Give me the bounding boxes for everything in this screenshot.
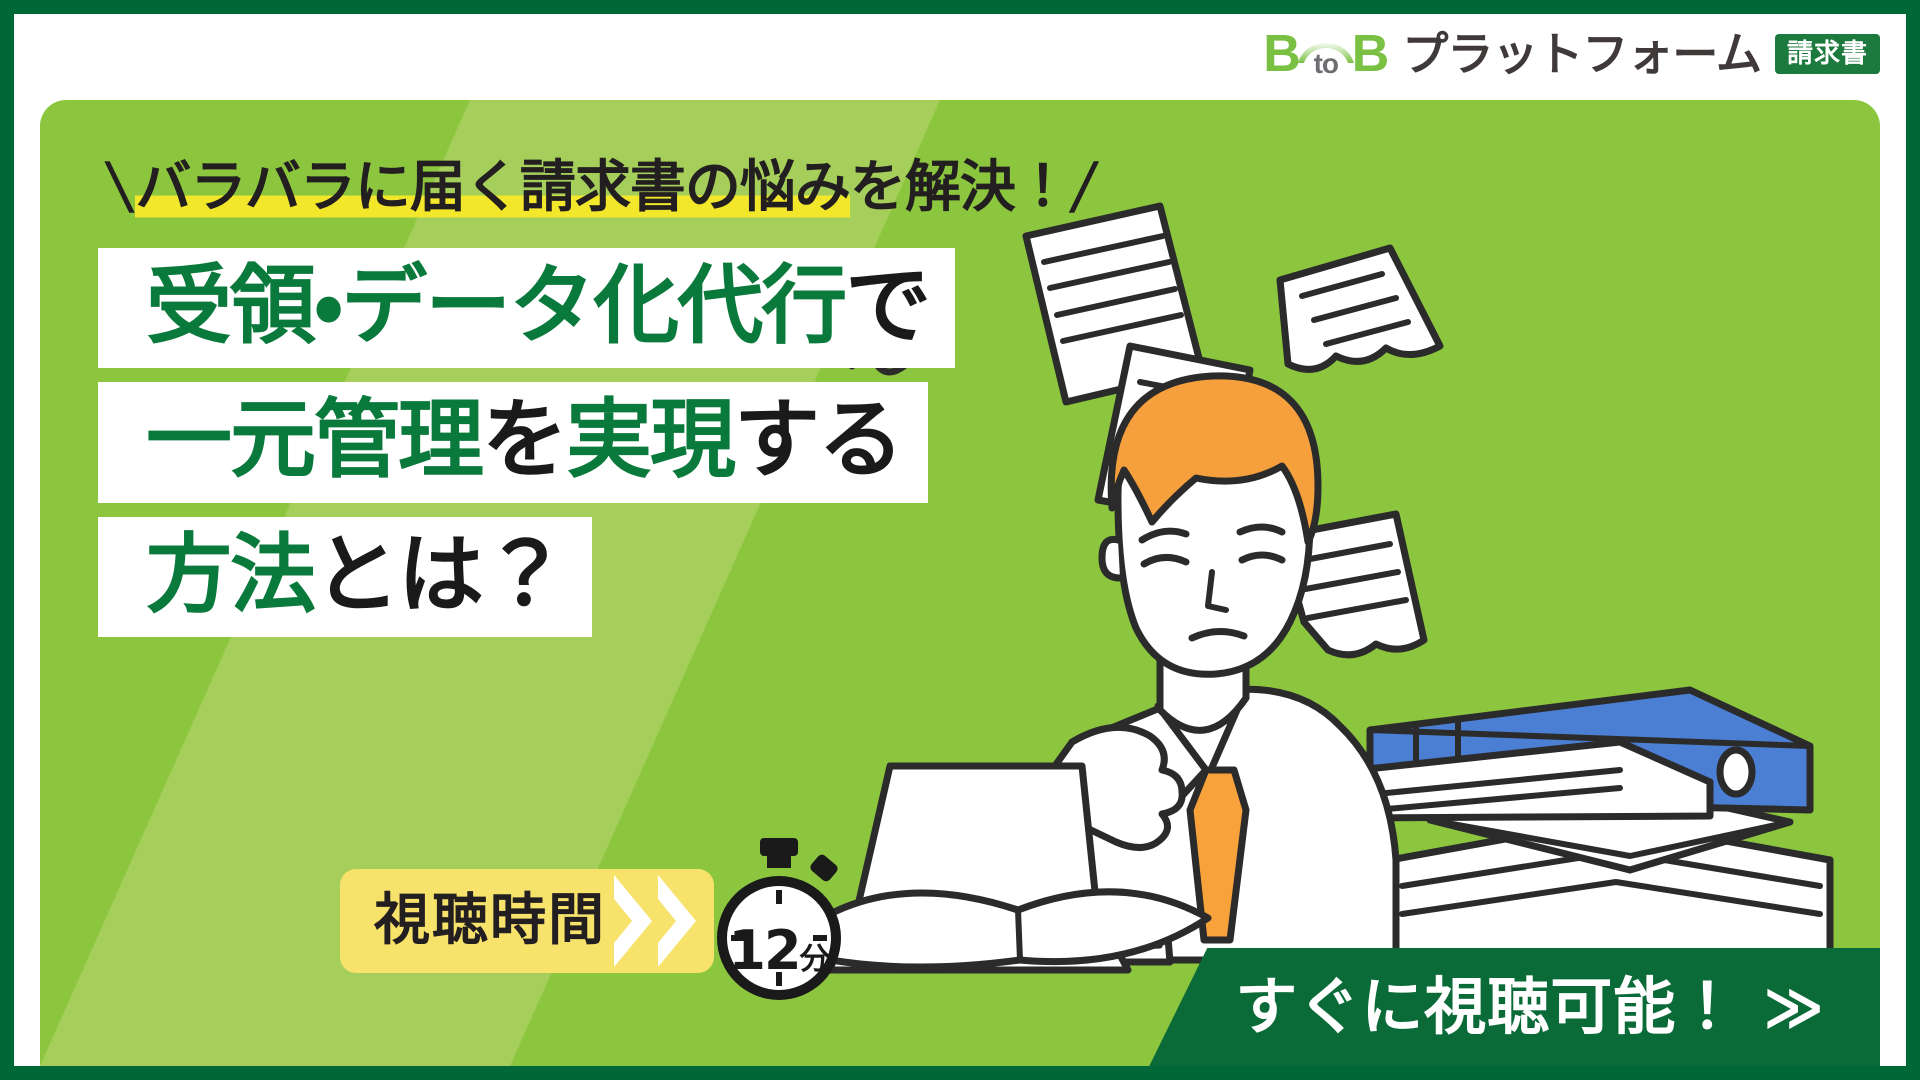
btob-wordmark: B to B <box>1263 28 1388 80</box>
kicker-rest-text: を解決！ <box>850 155 1070 220</box>
kicker-tagline: \ バラバラに届く請求書の悩みを解決！ / <box>110 148 1093 228</box>
logo-to-text: to <box>1314 50 1338 80</box>
logo-b-right: B <box>1352 28 1389 80</box>
kicker-slash-left: \ <box>103 153 137 223</box>
document-stack <box>1390 786 1830 952</box>
cta-banner[interactable]: すぐに視聴可能！ ≫ <box>1149 948 1880 1066</box>
blue-binder-stack <box>1358 690 1810 818</box>
promo-banner: B to B プラットフォーム <box>0 0 1920 1080</box>
flying-paper-4 <box>1280 514 1424 655</box>
brand-logo[interactable]: B to B プラットフォーム <box>1263 18 1880 90</box>
kicker-text: バラバラに届く請求書の悩みを解決！ <box>135 160 1069 216</box>
cta-text: すぐに視聴可能！ <box>1235 976 1739 1038</box>
headline-block: 受領・データ化代行で 一元管理を実現する 方法とは？ <box>98 248 955 637</box>
flying-paper-3 <box>1280 248 1440 369</box>
flying-paper-1 <box>1026 206 1202 402</box>
stopwatch-icon: 12分 <box>704 838 854 1004</box>
headline-line-1: 受領・データ化代行で <box>98 248 955 368</box>
businessman-figure <box>954 376 1396 962</box>
logo-b-left: B <box>1263 28 1300 80</box>
headline-line1-black: で <box>845 258 929 354</box>
headline-line-3: 方法とは？ <box>98 517 592 637</box>
headline-line2-green1: 一元管理 <box>146 392 482 488</box>
laptop <box>830 766 1128 970</box>
watch-time-label: 視聴時間 <box>374 893 606 949</box>
watch-time-pill: 視聴時間 <box>340 869 714 973</box>
headline-line1-green: 受領・データ化代行 <box>146 258 845 354</box>
chevron-right-icon-1 <box>610 869 656 973</box>
hero-card: \ バラバラに届く請求書の悩みを解決！ / 受領・データ化代行で 一元管理を実現… <box>40 100 1880 1066</box>
headline-line3-black: とは？ <box>314 527 566 623</box>
kicker-highlighted-text: バラバラに届く請求書の悩み <box>135 155 849 220</box>
illustration-troubled-office-worker <box>830 170 1870 990</box>
logo-to-wrap: to <box>1300 28 1352 80</box>
logo-platform-text: プラットフォーム <box>1402 31 1761 77</box>
headline-line2-green2: 実現 <box>566 392 734 488</box>
open-document <box>830 892 1208 967</box>
flying-paper-2 <box>1098 346 1250 522</box>
watch-time-badge: 視聴時間 <box>340 838 854 1004</box>
headline-line2-black2: する <box>734 392 902 488</box>
kicker-slash-right: / <box>1066 153 1100 223</box>
headline-line2-black1: を <box>482 392 566 488</box>
logo-product-badge: 請求書 <box>1775 34 1880 74</box>
chevron-double-right-icon: ≫ <box>1763 978 1824 1036</box>
headline-line3-green: 方法 <box>146 527 314 623</box>
headline-line-2: 一元管理を実現する <box>98 382 928 502</box>
chevron-right-icon-2 <box>654 869 700 973</box>
